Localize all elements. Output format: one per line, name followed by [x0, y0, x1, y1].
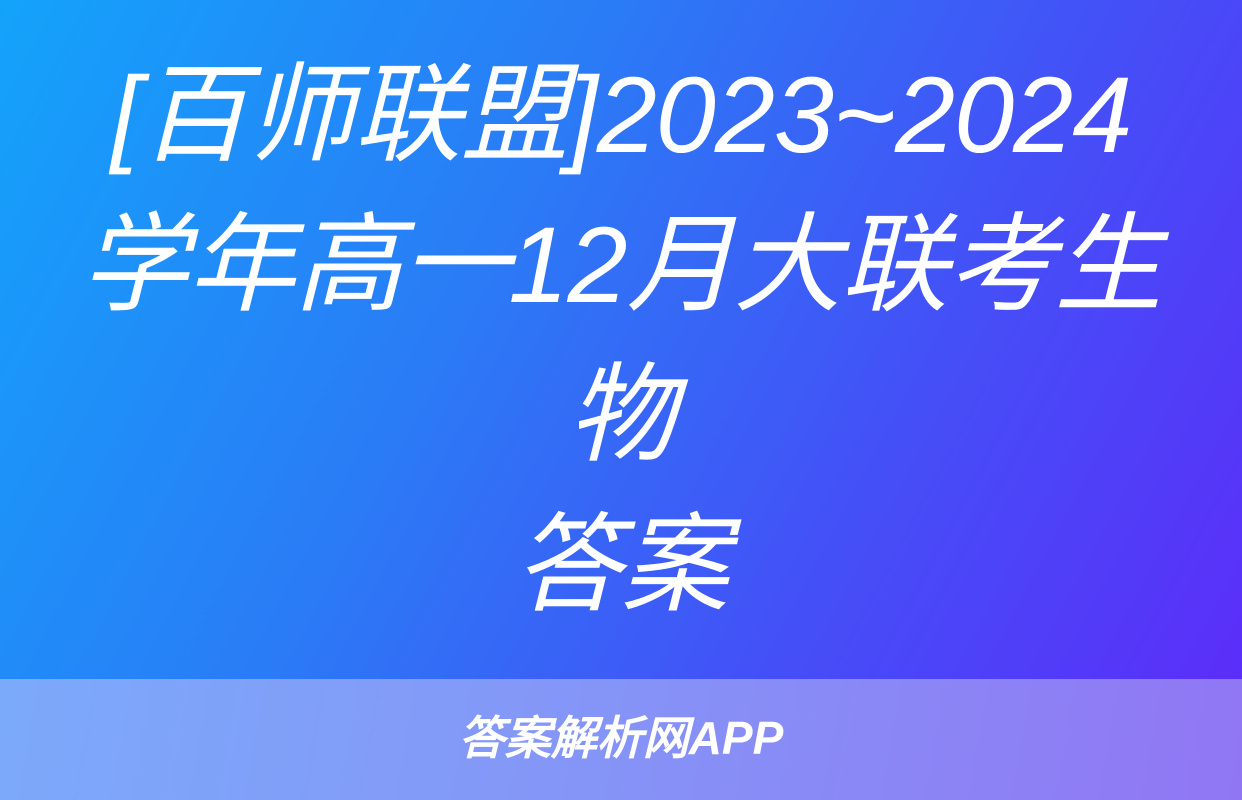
brand-watermark: 答案解析网APP	[459, 715, 784, 765]
hero-gradient-panel: [百师联盟]2023~2024 学年高一12月大联考生物 答案	[0, 0, 1242, 679]
page-title: [百师联盟]2023~2024 学年高一12月大联考生物 答案	[0, 40, 1242, 640]
answer-cover-screen: [百师联盟]2023~2024 学年高一12月大联考生物 答案 答案解析网APP	[0, 0, 1242, 800]
watermark-footer-band: 答案解析网APP	[0, 679, 1242, 800]
